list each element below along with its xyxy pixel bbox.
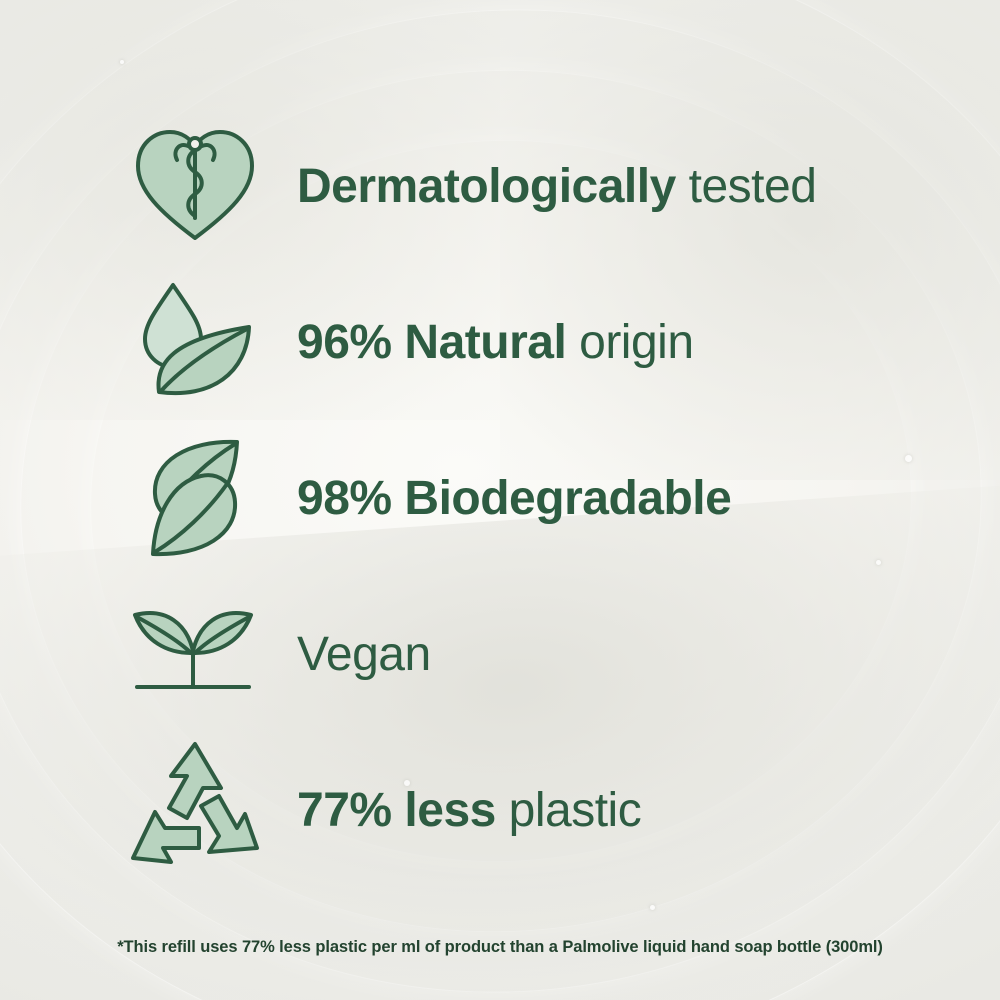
sprout-icon — [105, 599, 285, 709]
footnote-text: *This refill uses 77% less plastic per m… — [0, 938, 1000, 957]
claim-label-light: Vegan — [297, 628, 431, 681]
claim-label-bold: Dermatologically — [297, 160, 676, 213]
claims-list: Dermatologically tested 96% Natural orig… — [0, 108, 1000, 888]
background-speck — [650, 905, 655, 910]
droplet-leaf-icon — [105, 277, 285, 407]
claim-label-light: plastic — [496, 784, 641, 837]
claim-label-bold: 98% Biodegradable — [297, 472, 731, 525]
heart-caduceus-icon — [105, 126, 285, 246]
claim-label: Dermatologically tested — [297, 159, 816, 214]
claim-item: 96% Natural origin — [0, 264, 1000, 420]
claim-label: 77% less plastic — [297, 783, 641, 838]
claim-label: 98% Biodegradable — [297, 471, 731, 526]
claim-item: Vegan — [0, 576, 1000, 732]
two-leaves-icon — [105, 434, 285, 562]
product-claims-graphic: Dermatologically tested 96% Natural orig… — [0, 0, 1000, 1000]
claim-label: 96% Natural origin — [297, 315, 694, 370]
claim-item: 98% Biodegradable — [0, 420, 1000, 576]
claim-label-bold: 77% less — [297, 784, 496, 837]
claim-item: 77% less plastic — [0, 732, 1000, 888]
claim-label-light: tested — [676, 160, 817, 213]
recycle-icon — [105, 740, 285, 880]
claim-item: Dermatologically tested — [0, 108, 1000, 264]
claim-label-light: origin — [566, 316, 693, 369]
claim-label: Vegan — [297, 627, 431, 682]
claim-label-bold: 96% Natural — [297, 316, 566, 369]
background-speck — [120, 60, 124, 64]
